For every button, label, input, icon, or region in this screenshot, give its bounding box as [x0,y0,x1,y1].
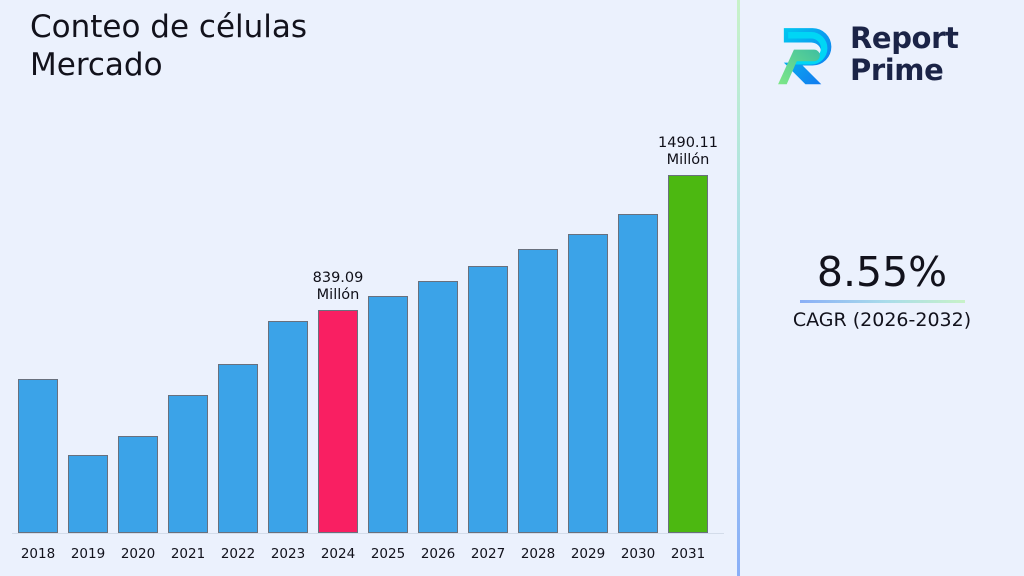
bar-2019 [68,455,108,533]
report-prime-logo-icon [768,18,840,90]
bar-2027 [468,266,508,533]
cagr-value: 8.55% [740,248,1024,296]
bar-2020 [118,436,158,533]
bar-2022 [218,364,258,533]
cagr-caption: CAGR (2026-2032) [740,308,1024,332]
x-axis-line [12,533,724,534]
brand-name: Report Prime [850,22,958,86]
bar-2018 [18,379,58,533]
bar-2030 [618,214,658,533]
x-axis-label-2031: 2031 [658,546,718,562]
bar-2021 [168,395,208,533]
bar-value-label-2031: 1490.11 Millón [628,135,748,169]
bar-2031 [668,175,708,533]
plot-area: 201820192020202120222023839.09 Millón202… [0,0,737,576]
bar-2028 [518,249,558,533]
bar-2024 [318,310,358,533]
chart-panel: Conteo de células Mercado 20182019202020… [0,0,737,576]
brand-panel: Report Prime 8.55% CAGR (2026-2032) [740,0,1024,576]
cagr-block: 8.55% CAGR (2026-2032) [740,248,1024,332]
chart-page: Conteo de células Mercado 20182019202020… [0,0,1024,576]
bar-2025 [368,296,408,533]
bar-2029 [568,234,608,533]
brand-logo: Report Prime [768,12,1018,96]
bar-2023 [268,321,308,533]
bar-2026 [418,281,458,533]
cagr-divider [800,300,965,303]
